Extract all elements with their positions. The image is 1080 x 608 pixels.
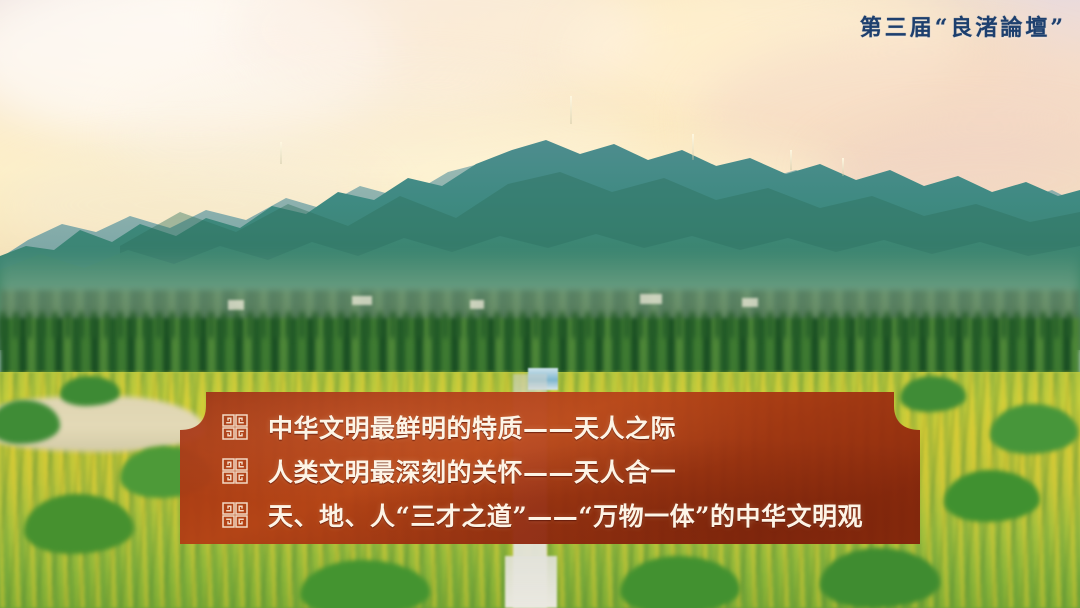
pavilion <box>528 368 558 390</box>
sky-background <box>0 0 1080 340</box>
clearing-pond <box>0 396 205 452</box>
distant-building <box>916 346 930 362</box>
slide-canvas: 第三届“良渚論壇” <box>0 0 1080 608</box>
quote-line-text: 人类文明最深刻的关怀——天人合一 <box>268 453 676 489</box>
quote-line: 天、地、人“三才之道”——“万物一体”的中华文明观 <box>222 494 920 536</box>
bush <box>620 556 740 608</box>
chinese-key-pattern-icon <box>222 502 248 528</box>
quote-line: 中华文明最鲜明的特质——天人之际 <box>222 406 920 448</box>
chinese-key-pattern-icon <box>222 458 248 484</box>
stone-path-base <box>505 556 557 608</box>
quote-lines: 中华文明最鲜明的特质——天人之际 <box>180 392 920 544</box>
bush <box>24 494 134 554</box>
quote-line: 人类文明最深刻的关怀——天人合一 <box>222 450 920 492</box>
bush <box>60 376 120 406</box>
bush <box>300 560 430 608</box>
distant-building <box>946 348 958 362</box>
quote-line-text: 中华文明最鲜明的特质——天人之际 <box>268 409 676 445</box>
distant-building <box>974 352 984 364</box>
quote-line-text: 天、地、人“三才之道”——“万物一体”的中华文明观 <box>268 497 863 533</box>
bush <box>990 404 1078 454</box>
bush <box>0 400 60 444</box>
bush <box>944 470 1040 522</box>
forum-title: 第三届“良渚論壇” <box>860 10 1066 42</box>
bush <box>820 548 940 608</box>
chinese-key-pattern-icon <box>222 414 248 440</box>
quote-banner: 中华文明最鲜明的特质——天人之际 <box>180 392 920 544</box>
